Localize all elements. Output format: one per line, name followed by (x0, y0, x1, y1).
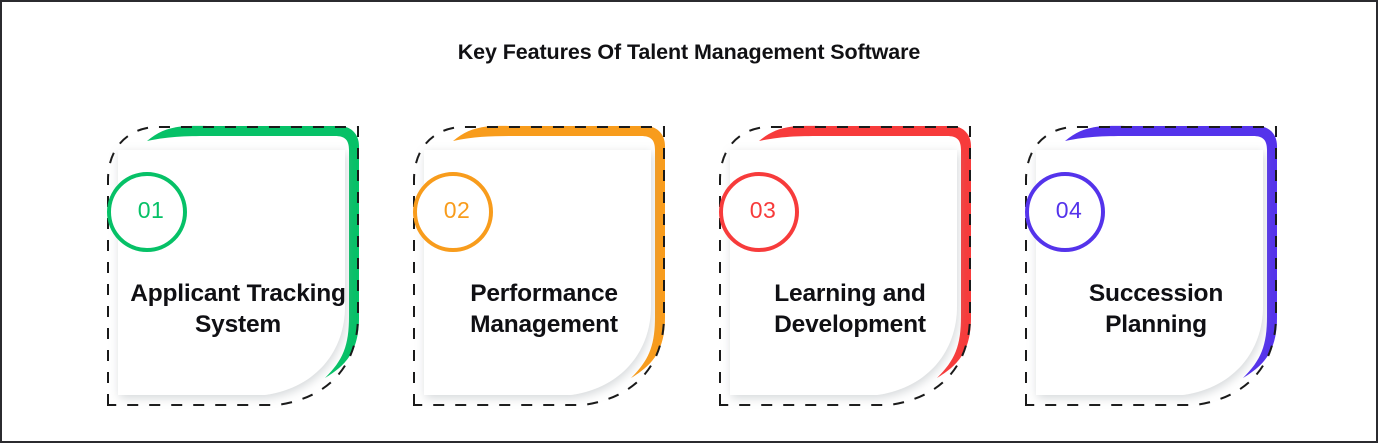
feature-card[interactable]: 04Succession Planning (1025, 120, 1295, 412)
feature-card[interactable]: 01Applicant Tracking System (107, 120, 377, 412)
card-number-badge: 04 (1025, 172, 1105, 252)
card-number-badge: 02 (413, 172, 493, 252)
infographic-canvas: Key Features Of Talent Management Softwa… (0, 0, 1378, 443)
card-feature-label: Applicant Tracking System (129, 278, 347, 340)
feature-card[interactable]: 02Performance Management (413, 120, 683, 412)
card-graphic (1025, 120, 1295, 412)
card-graphic (719, 120, 989, 412)
card-feature-label: Learning and Development (741, 278, 959, 340)
card-number-badge: 03 (719, 172, 799, 252)
card-number-badge: 01 (107, 172, 187, 252)
card-number-label: 04 (1056, 197, 1083, 224)
card-feature-label: Succession Planning (1047, 278, 1265, 340)
card-graphic (413, 120, 683, 412)
feature-card[interactable]: 03Learning and Development (719, 120, 989, 412)
page-title: Key Features Of Talent Management Softwa… (2, 40, 1376, 65)
card-graphic (107, 120, 377, 412)
card-number-label: 03 (750, 197, 777, 224)
card-number-label: 01 (138, 197, 165, 224)
card-feature-label: Performance Management (435, 278, 653, 340)
card-number-label: 02 (444, 197, 471, 224)
